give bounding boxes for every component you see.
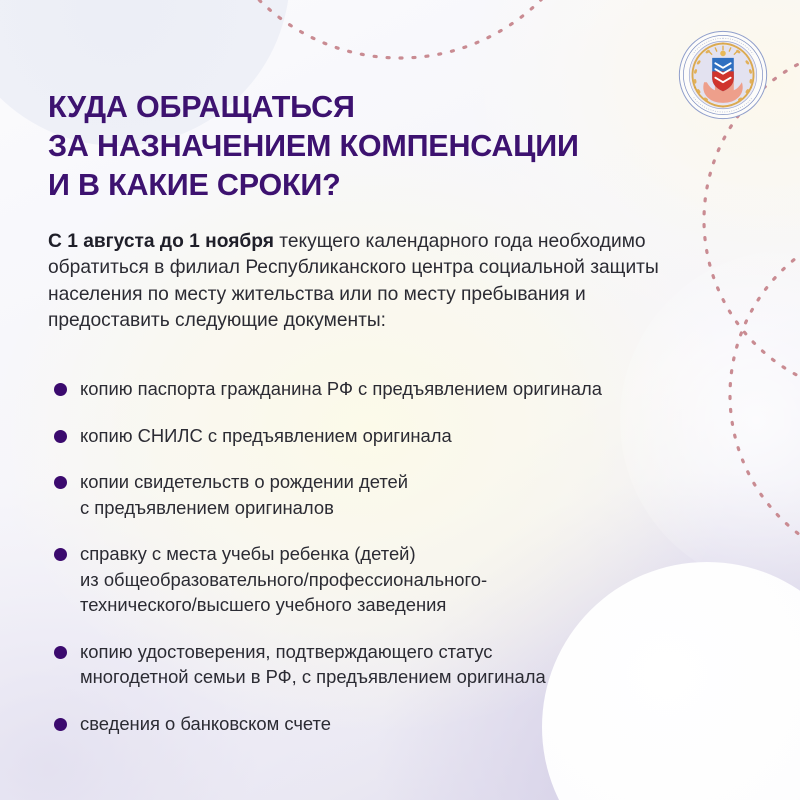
lead-paragraph: С 1 августа до 1 ноября текущего календа… <box>48 229 688 335</box>
list-item-line: из общеобразовательного/профессиональног… <box>80 567 768 593</box>
bullet-dot-icon <box>54 430 67 443</box>
headline-line-1: КУДА ОБРАЩАТЬСЯ <box>48 88 728 127</box>
list-item-line: многодетной семьи в РФ, с предъявлением … <box>80 664 768 690</box>
infographic-poster: КУДА ОБРАЩАТЬСЯ ЗА НАЗНАЧЕНИЕМ КОМПЕНСАЦ… <box>0 0 800 800</box>
required-documents-list: копию паспорта гражданина РФ с предъявле… <box>48 376 768 757</box>
bullet-dot-icon <box>54 548 67 561</box>
bullet-dot-icon <box>54 718 67 731</box>
list-item: сведения о банковском счете <box>48 711 768 737</box>
list-item-line: копию удостоверения, подтверждающего ста… <box>80 639 768 665</box>
headline-line-3: И В КАКИЕ СРОКИ? <box>48 166 728 205</box>
list-item-line: копии свидетельств о рождении детей <box>80 469 768 495</box>
list-item-line: с предъявлением оригиналов <box>80 495 768 521</box>
bullet-dot-icon <box>54 646 67 659</box>
list-item: копию СНИЛС с предъявлением оригинала <box>48 423 768 449</box>
list-item: копию удостоверения, подтверждающего ста… <box>48 639 768 690</box>
list-item-line: технического/высшего учебного заведения <box>80 592 768 618</box>
list-item-line: копию СНИЛС с предъявлением оригинала <box>80 423 768 449</box>
list-item: копию паспорта гражданина РФ с предъявле… <box>48 376 768 402</box>
bullet-dot-icon <box>54 383 67 396</box>
list-item-line: сведения о банковском счете <box>80 711 768 737</box>
bullet-dot-icon <box>54 476 67 489</box>
poster-content: КУДА ОБРАЩАТЬСЯ ЗА НАЗНАЧЕНИЕМ КОМПЕНСАЦ… <box>48 0 768 800</box>
list-item-line: копию паспорта гражданина РФ с предъявле… <box>80 376 768 402</box>
headline-line-2: ЗА НАЗНАЧЕНИЕМ КОМПЕНСАЦИИ <box>48 127 728 166</box>
list-item-line: справку с места учебы ребенка (детей) <box>80 541 768 567</box>
list-item: копии свидетельств о рождении детей с пр… <box>48 469 768 520</box>
lead-deadline-emphasis: С 1 августа до 1 ноября <box>48 231 274 252</box>
list-item: справку с места учебы ребенка (детей) из… <box>48 541 768 618</box>
page-title: КУДА ОБРАЩАТЬСЯ ЗА НАЗНАЧЕНИЕМ КОМПЕНСАЦ… <box>48 88 728 205</box>
